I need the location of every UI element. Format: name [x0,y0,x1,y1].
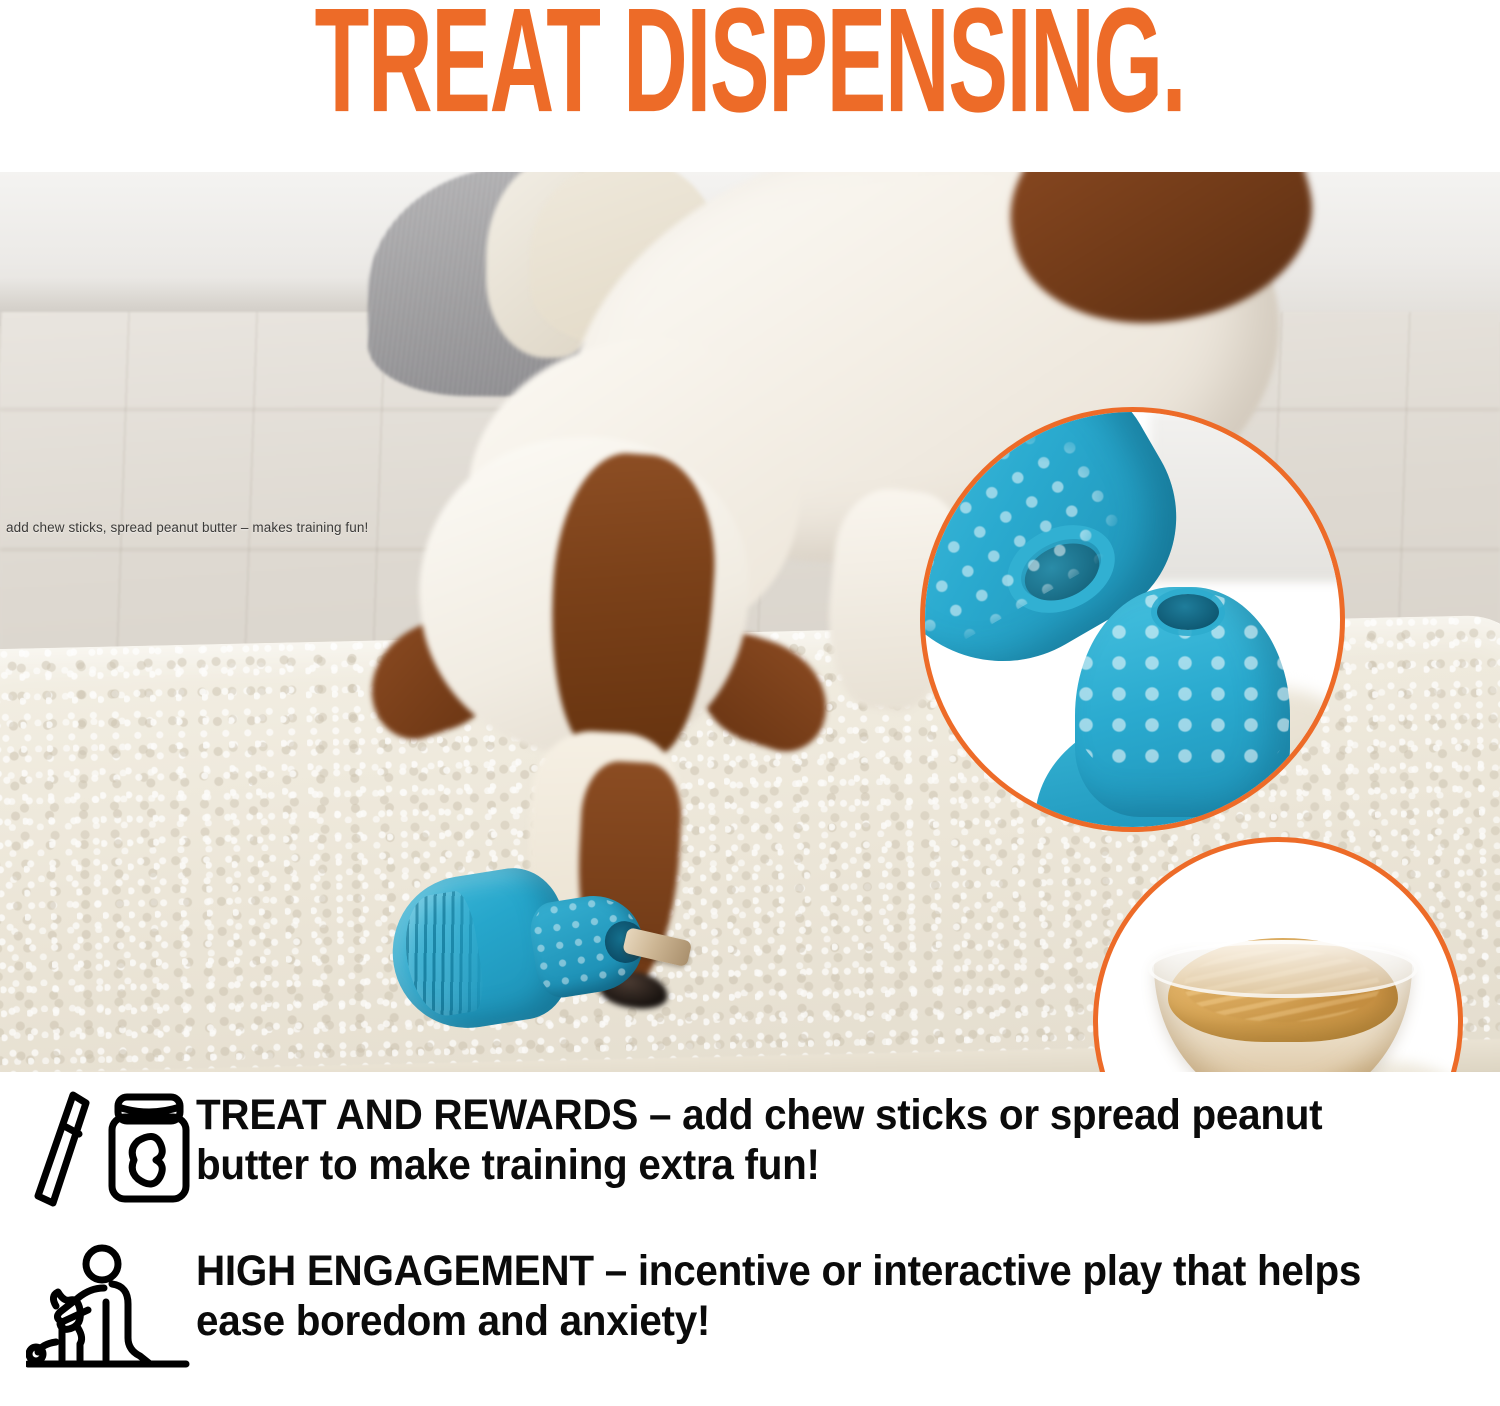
inset-toy-closeup [920,407,1345,832]
feature-item-treat-and-rewards: TREAT AND REWARDS – add chew sticks or s… [24,1088,1484,1214]
feature-lead: TREAT AND REWARDS [196,1091,638,1139]
feature-text-high-engagement: HIGH ENGAGEMENT – incentive or interacti… [196,1244,1407,1346]
glass-bowl-rim [1148,940,1418,998]
chew-stick-and-peanut-butter-jar-icon [24,1088,196,1214]
page-title: TREAT DISPENSING. [315,0,1186,129]
photo-caption: add chew sticks, spread peanut butter – … [6,520,368,535]
person-playing-with-dog-icon [24,1244,196,1370]
inset-toy-lower-opening [1157,594,1219,630]
feature-list: TREAT AND REWARDS – add chew sticks or s… [0,1072,1500,1406]
feature-dash: – [594,1247,638,1295]
headline-band: TREAT DISPENSING. [0,0,1500,172]
feature-text-treat-and-rewards: TREAT AND REWARDS – add chew sticks or s… [196,1088,1407,1190]
hero-photo: add chew sticks, spread peanut butter – … [0,172,1500,1072]
feature-lead: HIGH ENGAGEMENT [196,1247,594,1295]
feature-item-high-engagement: HIGH ENGAGEMENT – incentive or interacti… [24,1244,1484,1370]
feature-dash: – [638,1091,682,1139]
inset-wall-blur [1150,412,1345,582]
